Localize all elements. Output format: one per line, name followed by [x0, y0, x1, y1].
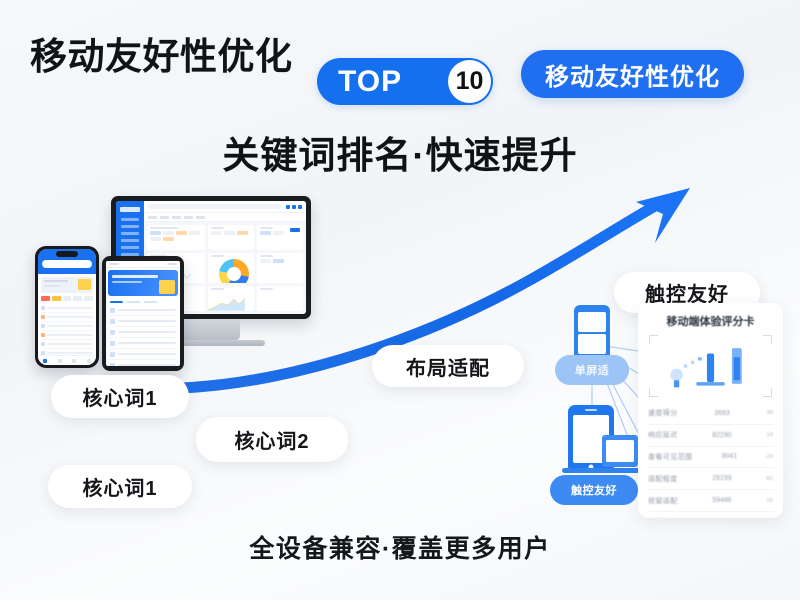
illustration-pill-touch-friendly: 触控友好: [550, 475, 638, 505]
dashboard-card: [257, 253, 303, 284]
row-delta: 60: [766, 476, 773, 482]
illustration-pill-single-screen: 单屏适: [555, 355, 629, 385]
table-row: 适配程度 28159 60: [647, 468, 774, 490]
monitor-stand: [182, 319, 240, 340]
phone-screen: [38, 249, 96, 365]
dashboard-donut-chart: [208, 253, 254, 284]
phone-tabbar: [38, 355, 96, 365]
tablet-list: [106, 305, 180, 366]
row-label: 响应延迟: [648, 430, 678, 440]
dashboard-topbar: [144, 201, 306, 213]
list-item: [41, 331, 93, 340]
top-10-badge: TOP 10: [317, 58, 493, 105]
list-item: [110, 360, 176, 366]
list-item: [41, 313, 93, 322]
score-card-title: 移动端体验评分卡: [647, 313, 774, 329]
row-value: 9041: [722, 453, 738, 460]
top-badge-word: TOP: [338, 67, 402, 97]
dashboard-topbar-icons: [286, 205, 302, 209]
list-item: [41, 340, 93, 349]
top-badge-number: 10: [448, 60, 491, 103]
dashboard-tabs: [144, 213, 306, 222]
phone-device: [35, 246, 99, 368]
row-value: 3693: [714, 410, 730, 417]
table-row: 响应延迟 82290 18: [647, 425, 774, 447]
list-item: [110, 316, 176, 327]
dashboard-card: [257, 225, 303, 250]
row-delta: 28: [766, 454, 773, 460]
header-tag-pill: 移动友好性优化: [521, 50, 744, 98]
row-label: 视窗适配: [648, 496, 678, 506]
sidebar-item: [121, 232, 139, 235]
row-delta: 18: [766, 432, 773, 438]
row-value: 82290: [712, 432, 731, 439]
list-item: [41, 304, 93, 313]
tablet-banner: [108, 270, 178, 296]
dashboard-card: [208, 225, 254, 250]
dashboard-search-bar: [148, 204, 282, 209]
phone-frame: [35, 246, 99, 368]
table-row: 视窗适配 59486 16: [647, 490, 774, 512]
phone-notch: [56, 251, 78, 257]
sidebar-item: [121, 218, 139, 221]
footer-tagline: 全设备兼容·覆盖更多用户: [0, 529, 800, 565]
chip-keyword-2[interactable]: 核心词2: [196, 417, 348, 462]
device-cluster: [26, 196, 336, 376]
tablet-screen: [106, 261, 180, 366]
table-row: 查看可见范围 9041 28: [647, 447, 774, 469]
dashboard-area-chart: [208, 286, 254, 311]
phone-promo-banner: [41, 277, 93, 293]
chip-keyword-1[interactable]: 核心词1: [51, 375, 189, 418]
score-card-rows: 速度得分 3693 39 响应延迟 82290 18 查看可见范围 9041 2…: [647, 403, 774, 518]
dashboard-card: [147, 225, 205, 250]
donut-chart: [219, 259, 249, 284]
row-label: 速度得分: [648, 408, 678, 418]
chip-keyword-3[interactable]: 核心词1: [48, 465, 192, 508]
row-delta: 39: [766, 410, 773, 416]
tablet-statusbar: [106, 261, 180, 268]
poster-stage: 移动友好性优化 TOP 10 移动友好性优化 关键词排名·快速提升: [0, 0, 800, 600]
list-item: [110, 327, 176, 338]
row-value: 28159: [712, 475, 731, 482]
table-row: 触摸精度评分 22449 41: [647, 512, 774, 518]
list-item: [41, 322, 93, 331]
score-card-chart: [649, 335, 772, 397]
row-label: 适配程度: [648, 474, 678, 484]
phone-search-bar: [42, 260, 92, 268]
row-label: 触摸精度评分: [648, 517, 692, 518]
table-row: 速度得分 3693 39: [647, 403, 774, 425]
page-title: 移动友好性优化: [30, 26, 293, 80]
row-value: 59486: [712, 497, 731, 504]
phone-quick-icons: [38, 296, 96, 304]
sidebar-item: [121, 225, 139, 228]
chip-layout-fit[interactable]: 布局适配: [372, 345, 524, 387]
tablet-device: [102, 256, 184, 371]
tablet-tabs: [106, 298, 180, 305]
mobile-experience-illustration: 单屏适 触控友好 移动端体验评分卡: [540, 300, 788, 522]
mobile-score-card: 移动端体验评分卡 速度得分: [638, 303, 783, 518]
tablet-frame: [102, 256, 184, 371]
row-delta: 16: [766, 498, 773, 504]
sidebar-item: [121, 239, 139, 242]
list-item: [110, 349, 176, 360]
list-item: [110, 305, 176, 316]
dashboard-logo: [120, 207, 140, 212]
row-label: 查看可见范围: [648, 452, 692, 462]
dashboard-card: [257, 286, 303, 311]
sidebar-item: [121, 246, 139, 249]
list-item: [110, 338, 176, 349]
